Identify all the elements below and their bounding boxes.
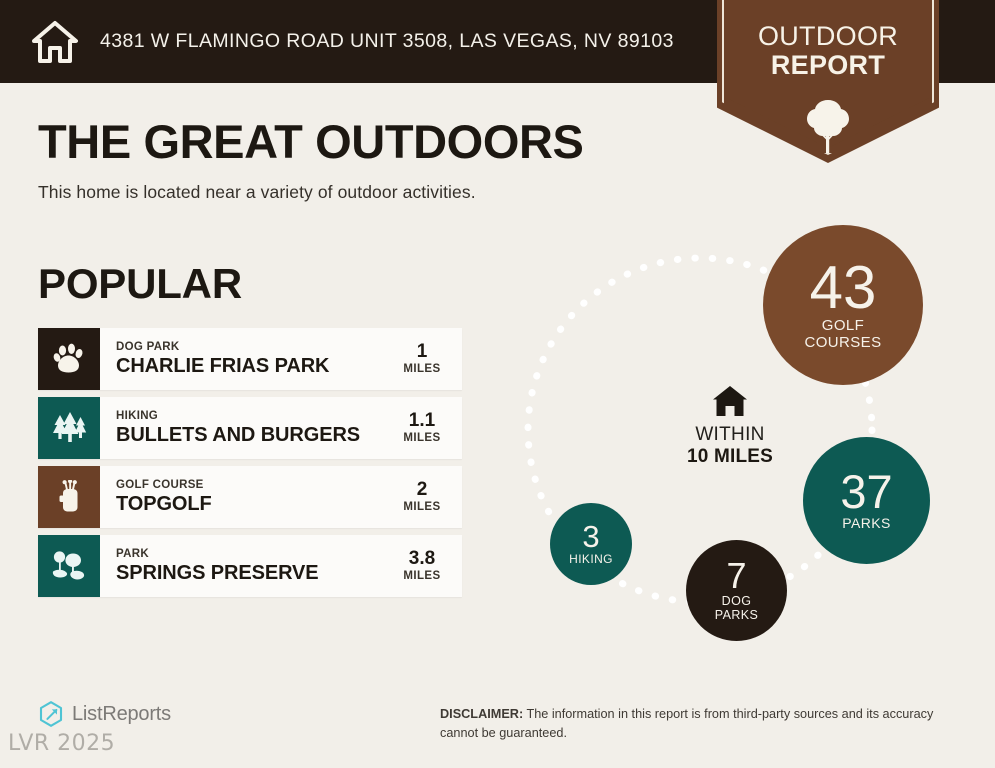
listreports-logo[interactable]: ListReports xyxy=(38,700,171,728)
list-item[interactable]: HIKING BULLETS AND BURGERS 1.1 MILES xyxy=(38,397,462,459)
disclaimer: DISCLAIMER: The information in this repo… xyxy=(440,705,955,742)
home-icon xyxy=(32,20,78,64)
list-item-distance: 2 MILES xyxy=(388,466,462,528)
golf-bag-icon xyxy=(38,466,100,528)
listreports-logo-icon xyxy=(38,700,72,728)
distance-value: 3.8 xyxy=(409,549,435,569)
center-note-line2: 10 MILES xyxy=(655,446,805,468)
list-item-name: CHARLIE FRIAS PARK xyxy=(116,355,329,378)
header-address-block: 4381 W FLAMINGO ROAD UNIT 3508, LAS VEGA… xyxy=(0,0,718,83)
title-block: THE GREAT OUTDOORS This home is located … xyxy=(38,118,584,203)
list-item-body: PARK SPRINGS PRESERVE xyxy=(100,535,388,597)
distance-value: 1 xyxy=(417,342,428,362)
distance-unit: MILES xyxy=(403,569,440,584)
bubble-label-line1: PARKS xyxy=(842,516,890,531)
list-item-name: SPRINGS PRESERVE xyxy=(116,562,319,585)
list-item-distance: 1 MILES xyxy=(388,328,462,390)
bubble-dog-parks[interactable]: 7 DOG PARKS xyxy=(686,540,787,641)
distance-unit: MILES xyxy=(403,500,440,515)
list-item-category: HIKING xyxy=(116,409,360,424)
list-item-body: HIKING BULLETS AND BURGERS xyxy=(100,397,388,459)
bubble-label-line2: COURSES xyxy=(805,335,882,351)
list-item-name: TOPGOLF xyxy=(116,493,212,516)
bubble-label-line2: PARKS xyxy=(715,609,758,623)
bubble-value: 3 xyxy=(582,522,599,551)
list-item-distance: 1.1 MILES xyxy=(388,397,462,459)
bubble-value: 7 xyxy=(726,559,746,593)
popular-section-heading: POPULAR xyxy=(38,263,242,305)
list-item-body: GOLF COURSE TOPGOLF xyxy=(100,466,388,528)
distance-unit: MILES xyxy=(403,431,440,446)
center-note-line1: WITHIN xyxy=(655,424,805,446)
bubble-parks[interactable]: 37 PARKS xyxy=(803,437,930,564)
list-item[interactable]: PARK SPRINGS PRESERVE 3.8 MILES xyxy=(38,535,462,597)
page-subtitle: This home is located near a variety of o… xyxy=(38,182,584,203)
paw-print-icon xyxy=(38,328,100,390)
list-item[interactable]: DOG PARK CHARLIE FRIAS PARK 1 MILES xyxy=(38,328,462,390)
watermark-text: LVR 2025 xyxy=(8,731,115,756)
distance-value: 2 xyxy=(417,480,428,500)
list-item-category: PARK xyxy=(116,547,319,562)
diagram-center-note: WITHIN 10 MILES xyxy=(655,385,805,468)
bubble-label-line1: GOLF xyxy=(822,318,864,334)
home-icon xyxy=(655,385,805,417)
distance-value: 1.1 xyxy=(409,411,435,431)
pine-trees-icon xyxy=(38,397,100,459)
bubble-label-line1: DOG xyxy=(722,595,752,609)
list-item-body: DOG PARK CHARLIE FRIAS PARK xyxy=(100,328,388,390)
park-trees-pond-icon xyxy=(38,535,100,597)
list-item-category: GOLF COURSE xyxy=(116,478,212,493)
bubble-golf-courses[interactable]: 43 GOLF COURSES xyxy=(763,225,923,385)
bubble-label-line1: HIKING xyxy=(569,553,613,566)
list-item[interactable]: GOLF COURSE TOPGOLF 2 MILES xyxy=(38,466,462,528)
popular-list: DOG PARK CHARLIE FRIAS PARK 1 MILES xyxy=(38,328,462,604)
listreports-logo-text: ListReports xyxy=(72,703,171,726)
badge-title: OUTDOOR REPORT xyxy=(717,22,939,80)
list-item-name: BULLETS AND BURGERS xyxy=(116,424,360,447)
bubble-hiking[interactable]: 3 HIKING xyxy=(550,503,632,585)
amenity-bubble-diagram: 43 GOLF COURSES 37 PARKS 7 DOG PARKS 3 H… xyxy=(505,225,975,655)
disclaimer-label: DISCLAIMER: xyxy=(440,707,523,721)
bubble-value: 43 xyxy=(810,259,877,316)
property-address: 4381 W FLAMINGO ROAD UNIT 3508, LAS VEGA… xyxy=(100,30,674,53)
distance-unit: MILES xyxy=(403,362,440,377)
badge-title-line2: REPORT xyxy=(717,51,939,80)
badge-title-line1: OUTDOOR xyxy=(717,22,939,51)
page-title: THE GREAT OUTDOORS xyxy=(38,118,584,165)
list-item-distance: 3.8 MILES xyxy=(388,535,462,597)
list-item-category: DOG PARK xyxy=(116,340,329,355)
tree-icon xyxy=(802,98,854,154)
bubble-value: 37 xyxy=(840,470,892,515)
